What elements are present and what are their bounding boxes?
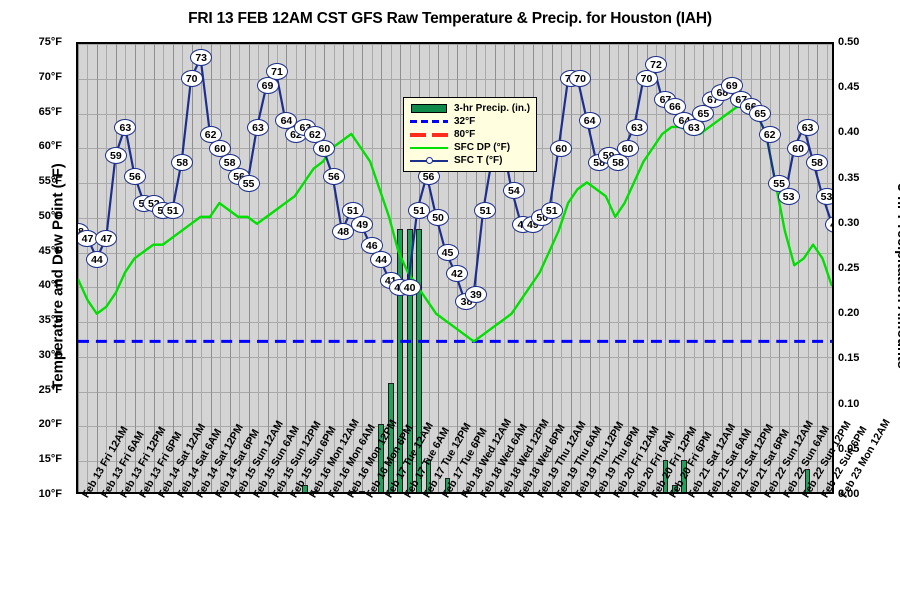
data-point-label: 60 [617, 140, 639, 157]
legend-item-red-dashed: 80°F [409, 128, 530, 141]
legend-item-green-line: SFC DP (°F) [409, 141, 530, 154]
data-point-label: 58 [806, 154, 828, 171]
data-point-label: 70 [181, 70, 203, 87]
y-tick-right: 0.45 [838, 81, 884, 93]
legend-label: 3-hr Precip. (in.) [454, 103, 530, 114]
data-point-label: 58 [171, 154, 193, 171]
y-tick-right: 0.50 [838, 36, 884, 48]
y-tick-left: 60°F [2, 140, 62, 152]
y-tick-left: 70°F [2, 71, 62, 83]
page-title: FRI 13 FEB 12AM CST GFS Raw Temperature … [0, 10, 900, 28]
y-tick-left: 10°F [2, 488, 62, 500]
y-tick-left: 50°F [2, 210, 62, 222]
legend: 3-hr Precip. (in.)32°F80°FSFC DP (°F)SFC… [403, 97, 537, 172]
y-tick-right: 0.40 [838, 126, 884, 138]
data-point-label: 64 [579, 112, 601, 129]
y-tick-left: 35°F [2, 314, 62, 326]
legend-item-blue-dashed: 32°F [409, 115, 530, 128]
y-axis-title-right: 3-hr Precipitation Amounts [894, 126, 900, 426]
data-point-label: 39 [465, 286, 487, 303]
data-point-label: 55 [238, 175, 260, 192]
legend-label: 80°F [454, 129, 475, 140]
data-point-label: 44 [86, 251, 108, 268]
data-point-label: 60 [550, 140, 572, 157]
y-tick-left: 20°F [2, 418, 62, 430]
y-tick-left: 25°F [2, 384, 62, 396]
data-point-label: 56 [323, 168, 345, 185]
data-point-label: 45 [437, 244, 459, 261]
y-tick-left: 40°F [2, 279, 62, 291]
legend-label: SFC DP (°F) [454, 142, 510, 153]
x-axis-ticks: Feb 13 Fri 12AMFeb 13 Fri 6AMFeb 13 Fri … [76, 494, 834, 613]
data-point-label: 54 [503, 182, 525, 199]
y-tick-left: 55°F [2, 175, 62, 187]
y-axis-title-left: Temperature and Dew Point (°F) [50, 127, 67, 427]
y-tick-left: 45°F [2, 245, 62, 257]
data-point-label: 63 [626, 119, 648, 136]
legend-label: SFC T (°F) [454, 155, 502, 166]
navy-marker-icon [409, 155, 449, 166]
blue-dashed-icon [409, 116, 449, 127]
y-tick-left: 75°F [2, 36, 62, 48]
data-point-label: 42 [446, 265, 468, 282]
y-tick-right: 0.15 [838, 352, 884, 364]
data-point-label: 60 [787, 140, 809, 157]
data-point-label: 56 [124, 168, 146, 185]
data-point-label: 60 [313, 140, 335, 157]
data-point-label: 40 [399, 279, 421, 296]
data-point-label: 63 [797, 119, 819, 136]
y-tick-right: 0.20 [838, 307, 884, 319]
plot-area: 4847444759635652525151587073626058565563… [76, 42, 834, 494]
y-tick-right: 0.30 [838, 217, 884, 229]
green-line-icon [409, 142, 449, 153]
data-point-label: 59 [105, 147, 127, 164]
legend-item-precip-swatch: 3-hr Precip. (in.) [409, 102, 530, 115]
y-tick-left: 15°F [2, 453, 62, 465]
data-point-label: 63 [247, 119, 269, 136]
y-tick-right: 0.25 [838, 262, 884, 274]
data-point-label: 62 [759, 126, 781, 143]
y-tick-left: 30°F [2, 349, 62, 361]
legend-item-navy-marker: SFC T (°F) [409, 154, 530, 167]
chart-root: FRI 13 FEB 12AM CST GFS Raw Temperature … [0, 0, 900, 613]
precip-swatch-icon [409, 103, 449, 114]
y-tick-right: 0.10 [838, 398, 884, 410]
red-dashed-icon [409, 129, 449, 140]
y-tick-left: 65°F [2, 106, 62, 118]
legend-label: 32°F [454, 116, 475, 127]
y-tick-right: 0.35 [838, 172, 884, 184]
